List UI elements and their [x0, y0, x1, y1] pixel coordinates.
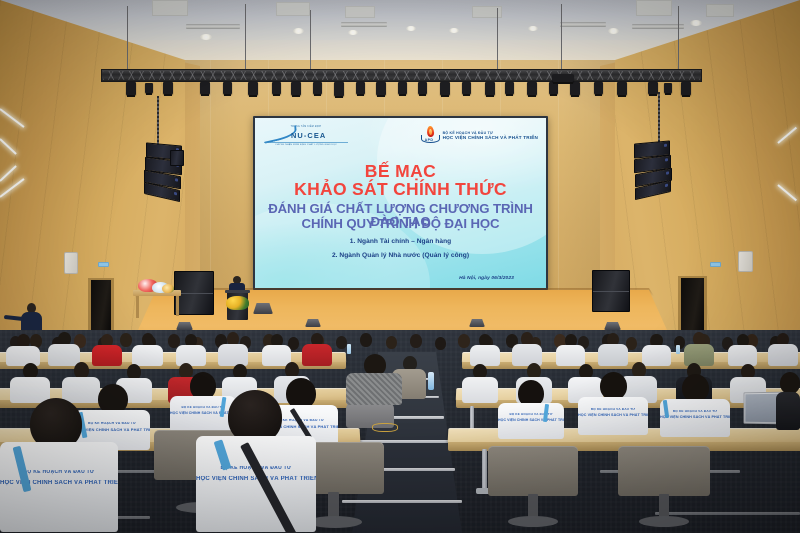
stage-light-fixture: [462, 82, 471, 94]
audience-person: [302, 333, 332, 364]
rigging-wire: [497, 8, 498, 70]
stage-light-fixture: [334, 82, 344, 96]
stage-light-fixture: [594, 82, 603, 94]
ceiling-downlight: [348, 30, 358, 35]
student-with-uniform-shirt: BỘ KẾ HOẠCH VÀ ĐẦU TƯ HỌC VIỆN CHÍNH SÁC…: [660, 374, 730, 434]
exit-sign-left: [98, 262, 109, 267]
stage-light-fixture: [356, 82, 365, 94]
truss-lattice: [103, 71, 700, 80]
audience-person: [598, 333, 628, 364]
audience-person: [728, 334, 757, 364]
rigging-wire: [678, 6, 679, 70]
shirt-print-line1: BỘ KẾ HOẠCH VÀ ĐẦU TƯ: [660, 410, 730, 414]
wall-mounted-speaker-left: [64, 252, 78, 274]
apd-logo-initials: APD: [425, 138, 434, 142]
slide-bullet-1: 1. Ngành Tài chính – Ngân hàng: [255, 238, 546, 245]
presentation-slide: TRUNG TÂM KIỂM ĐỊNH NU-CEA CHỨNG NHẬN KI…: [255, 118, 546, 288]
podium-flower-arrangement: [226, 296, 249, 310]
rigging-wire: [245, 4, 246, 70]
foreground-student-left: BỘ KẾ HOẠCH VÀ ĐẦU TƯ HỌC VIỆN CHÍNH SÁC…: [0, 398, 118, 530]
stage-light-fixture: [223, 82, 232, 94]
stage-light-fixture: [664, 83, 672, 93]
apd-logo-line2: HỌC VIỆN CHÍNH SÁCH VÀ PHÁT TRIỂN: [443, 135, 538, 141]
ceiling-downlight: [406, 26, 416, 31]
water-bottle-on-stairs: [428, 372, 434, 390]
person-torso: BỘ KẾ HOẠCH VÀ ĐẦU TƯ HỌC VIỆN CHÍNH SÁC…: [498, 403, 564, 439]
air-vent: [341, 22, 387, 27]
ceiling-panel: [636, 0, 672, 16]
air-vent: [632, 24, 684, 29]
ceiling-downlight: [608, 28, 619, 34]
rigging-wire: [127, 6, 128, 70]
shirt-print-line2: HỌC VIỆN CHÍNH SÁCH VÀ PHÁT TRIỂN: [0, 480, 118, 487]
stage-light-fixture: [291, 82, 301, 95]
slide-subtitle-line2: CHÍNH QUY TRÌNH ĐỘ ĐẠI HỌC: [255, 217, 546, 230]
stage-light-fixture: [440, 82, 450, 95]
person-head: [600, 372, 627, 400]
audience-person: [684, 332, 714, 364]
ceiling-downlight: [293, 28, 304, 34]
stage-light-fixture: [505, 82, 514, 94]
desk-leg: [482, 449, 487, 491]
audience-person: [6, 334, 40, 364]
audience-person: [470, 334, 500, 364]
side-table-leg: [176, 296, 179, 316]
flower-arrangement-table-3: [162, 284, 174, 293]
audience-person: [48, 332, 80, 364]
side-table-leg: [136, 296, 139, 318]
stage-light-fixture: [648, 82, 658, 94]
stage-light-fixture: [126, 82, 136, 95]
slide-title-line1: BẾ MẠC: [255, 163, 546, 181]
podium-top: [225, 290, 250, 293]
audience-person: [642, 334, 671, 364]
nucea-logo-subline: CHỨNG NHẬN KIỂM ĐỊNH CHẤT LƯỢNG GIÁO DỤC: [264, 144, 348, 146]
shirt-print-line2: HỌC VIỆN CHÍNH SÁCH VÀ PHÁT TRIỂN: [498, 418, 564, 422]
stage-light-fixture: [313, 82, 322, 94]
audience-person: [262, 334, 291, 364]
water-bottle: [347, 344, 351, 354]
stage-light-fixture: [398, 82, 407, 94]
audience-person: [92, 334, 122, 364]
nucea-logo-name: NU-CEA: [291, 131, 326, 140]
nucea-logo-rule: [264, 142, 348, 143]
apd-logo-mark: APD: [421, 126, 440, 146]
slide-title-line2: KHẢO SÁT CHÍNH THỨC: [255, 181, 546, 199]
person-torso: BỘ KẾ HOẠCH VÀ ĐẦU TƯ HỌC VIỆN CHÍNH SÁC…: [660, 399, 730, 437]
projection-screen-frame: TRUNG TÂM KIỂM ĐỊNH NU-CEA CHỨNG NHẬN KI…: [253, 116, 548, 290]
person-torso: BỘ KẾ HOẠCH VÀ ĐẦU TƯ HỌC VIỆN CHÍNH SÁC…: [578, 397, 648, 435]
subwoofer-stack-right: [592, 270, 630, 312]
ceiling-panel: [152, 0, 188, 16]
air-vent: [186, 24, 240, 29]
stage-light-fixture: [485, 82, 495, 95]
shirt-print-line2: HỌC VIỆN CHÍNH SÁCH VÀ PHÁT TRIỂN: [660, 415, 730, 419]
person-head: [682, 374, 709, 402]
audience-person: [512, 332, 542, 364]
stage-light-fixture: [248, 82, 258, 95]
audience-person: [776, 372, 800, 428]
air-vent: [560, 22, 606, 27]
person-torso: [346, 373, 402, 405]
audience-person: [132, 333, 163, 364]
audience-person: [10, 363, 50, 401]
eyeglasses-on-desk: [372, 423, 398, 432]
audience-person: [176, 334, 206, 364]
ceiling-panel: [706, 4, 734, 17]
stage-light-fixture: [163, 82, 173, 94]
apd-logo: APD BỘ KẾ HOẠCH VÀ ĐẦU TƯ HỌC VIỆN CHÍNH…: [421, 126, 538, 146]
student-with-uniform-shirt: BỘ KẾ HOẠCH VÀ ĐẦU TƯ HỌC VIỆN CHÍNH SÁC…: [498, 380, 564, 436]
student-with-uniform-shirt: BỘ KẾ HOẠCH VÀ ĐẦU TƯ HỌC VIỆN CHÍNH SÁC…: [578, 372, 648, 432]
audience-person: [556, 334, 585, 364]
nucea-logo-mark: NU-CEA: [264, 128, 348, 141]
wall-mounted-speaker-right: [738, 251, 753, 272]
rigging-wire: [561, 4, 562, 70]
ceiling-downlight: [449, 28, 459, 33]
hall-door-left: [91, 280, 111, 336]
stage-light-fixture: [418, 82, 427, 94]
ceiling-downlight: [690, 20, 702, 26]
person-torso: BỘ KẾ HOẠCH VÀ ĐẦU TƯ HỌC VIỆN CHÍNH SÁC…: [196, 436, 316, 532]
rigging-wire: [310, 10, 311, 70]
audience-person-blazer: [346, 354, 402, 402]
hall-door-right: [681, 278, 704, 338]
speaker-rigging-chain: [658, 92, 660, 144]
stage-light-fixture: [145, 83, 153, 93]
auditorium-chair: [618, 446, 710, 530]
audience-person: [218, 332, 248, 364]
auditorium-chair: [488, 446, 578, 530]
slide-bullet-2: 2. Ngành Quản lý Nhà nước (Quản lý công): [255, 252, 546, 259]
audience-person: [462, 364, 498, 401]
nucea-logo: TRUNG TÂM KIỂM ĐỊNH NU-CEA CHỨNG NHẬN KI…: [264, 126, 348, 146]
slide-date-line: Hà Nội, ngày 06/3/2023: [459, 276, 514, 281]
ceiling-downlight: [528, 26, 538, 31]
stage-light-fixture: [617, 82, 627, 95]
projection-screen: TRUNG TÂM KIỂM ĐỊNH NU-CEA CHỨNG NHẬN KI…: [255, 118, 546, 288]
auditorium-photo: TRUNG TÂM KIỂM ĐỊNH NU-CEA CHỨNG NHẬN KI…: [0, 0, 800, 533]
water-bottle: [676, 345, 680, 354]
speaker-rigging-chain: [157, 96, 159, 146]
moving-head-light: [552, 74, 574, 82]
stage-light-fixture: [200, 82, 210, 94]
stage-light-fixture: [376, 82, 386, 95]
shirt-print-line1: BỘ KẾ HOẠCH VÀ ĐẦU TƯ: [578, 408, 648, 412]
ceiling-downlight: [200, 34, 212, 40]
line-array-speaker-right: [632, 142, 672, 198]
lighting-truss: [101, 69, 702, 82]
shirt-print-line1: BỘ KẾ HOẠCH VÀ ĐẦU TƯ: [498, 413, 564, 416]
exit-sign-right: [710, 262, 721, 267]
apd-logo-text: BỘ KẾ HOẠCH VÀ ĐẦU TƯ HỌC VIỆN CHÍNH SÁC…: [443, 131, 538, 141]
audience-person: [768, 333, 798, 364]
stage-light-fixture: [272, 82, 281, 94]
stage-light-fixture: [527, 82, 537, 95]
shirt-print-line2: HỌC VIỆN CHÍNH SÁCH VÀ PHÁT TRIỂN: [578, 413, 648, 417]
ceiling-panel: [345, 6, 375, 18]
foreground-student-center: BỘ KẾ HOẠCH VÀ ĐẦU TƯ HỌC VIỆN CHÍNH SÁC…: [196, 390, 316, 530]
ceiling-panel: [276, 2, 310, 16]
stage-light-fixture: [681, 82, 691, 95]
line-array-speaker-left: [144, 144, 184, 200]
